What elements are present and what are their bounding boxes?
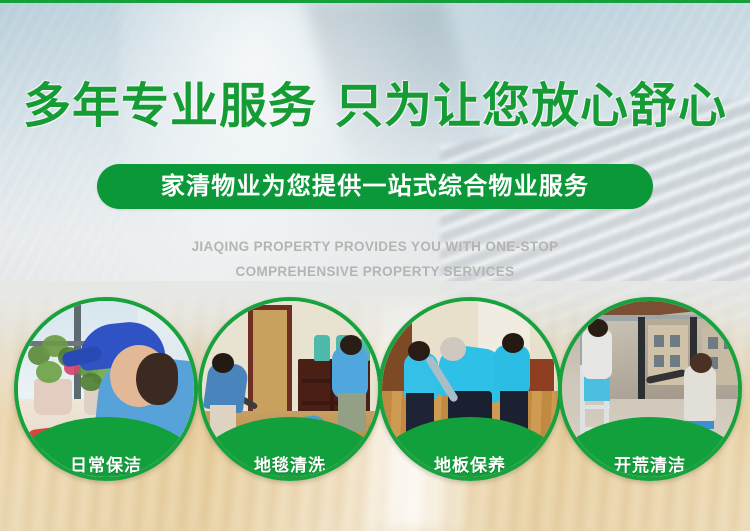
service-label: 开荒清洁 — [614, 457, 686, 481]
service-circle-carpet-cleaning[interactable]: 地毯清洗 — [198, 297, 382, 481]
promo-banner: 多年专业服务只为让您放心舒心 家清物业为您提供一站式综合物业服务 JIAQING… — [0, 0, 750, 531]
service-circle-daily-cleaning[interactable]: 日常保洁 — [14, 297, 198, 481]
service-label: 地板保养 — [434, 457, 506, 481]
service-circle-floor-maintenance[interactable]: 地板保养 — [378, 297, 562, 481]
service-label: 地毯清洗 — [254, 457, 326, 481]
service-label: 日常保洁 — [70, 457, 142, 481]
top-green-rule — [0, 0, 750, 3]
service-circle-post-construction-cleaning[interactable]: 开荒清洁 — [558, 297, 742, 481]
service-circle-list: 日常保洁 — [0, 0, 750, 531]
